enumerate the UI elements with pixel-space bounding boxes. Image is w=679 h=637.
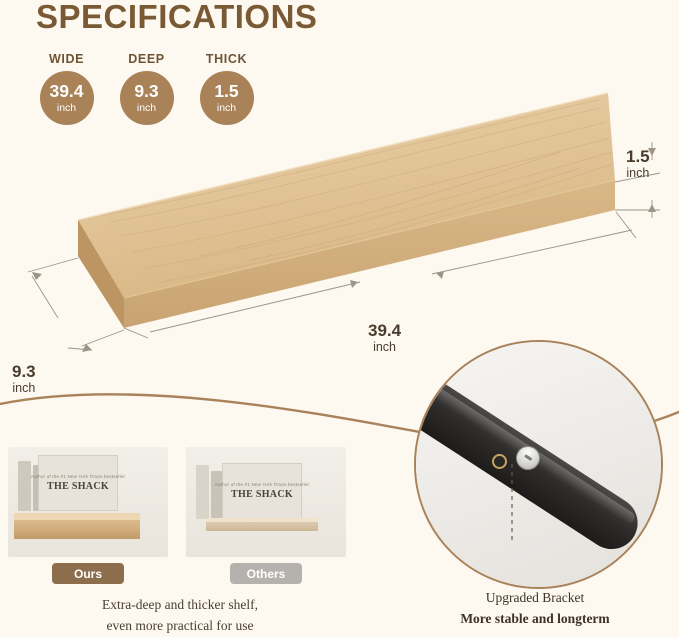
dimension-width: 39.4 inch [368,322,401,354]
comparison-caption: Extra-deep and thicker shelf, even more … [0,595,360,637]
shelf-thin-sample [206,518,318,531]
shelf-thick-sample [14,513,140,539]
width-unit: inch [368,341,401,355]
book-cover-ours: Author of the #1 New York Times bestsell… [38,455,118,511]
bracket-callout-line [416,342,661,587]
photo-ours: Author of the #1 New York Times bestsell… [8,447,168,557]
thickness-unit: inch [626,167,650,181]
book-spine [18,461,31,511]
bracket-caption: Upgraded Bracket More stable and longter… [400,588,670,630]
comparison-caption-line1: Extra-deep and thicker shelf, [0,595,360,616]
tag-ours: Ours [52,563,124,584]
page-title: SPECIFICATIONS [36,0,317,36]
thickness-value: 1.5 [626,148,650,167]
bracket-caption-line1: Upgraded Bracket [400,588,670,609]
comparison-section: Author of the #1 New York Times bestsell… [0,447,360,637]
book-subtitle: Author of the #1 New York Times bestsell… [215,482,309,487]
bracket-caption-line2: More stable and longterm [400,609,670,630]
tag-others: Others [230,563,302,584]
shelf-illustration: 1.5 inch 39.4 inch 9.3 inch [0,60,679,360]
shelf-svg [0,60,679,360]
photo-others: Author of the #1 New York Times bestsell… [186,447,346,557]
book-cover-others: Author of the #1 New York Times bestsell… [222,463,302,519]
book-title: THE SHACK [231,489,293,500]
book-spine [196,465,209,519]
book-subtitle: Author of the #1 New York Times bestsell… [31,474,125,479]
dimension-thickness: 1.5 inch [626,148,650,180]
book-title: THE SHACK [47,481,109,492]
width-value: 39.4 [368,322,401,341]
comparison-caption-line2: even more practical for use [0,616,360,637]
bracket-zoom-circle [414,340,663,589]
